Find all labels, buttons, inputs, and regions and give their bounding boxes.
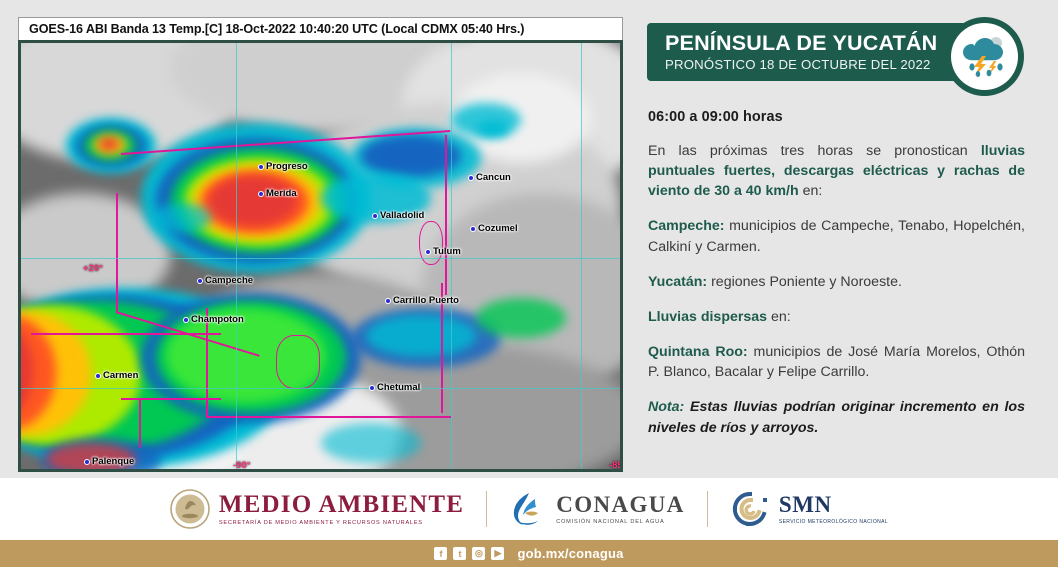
grid-coordinate-label: +20°	[83, 263, 103, 274]
coastline	[116, 193, 118, 313]
city-name: Tulum	[433, 246, 461, 257]
city-name: Progreso	[266, 161, 308, 172]
city-marker-dot	[198, 279, 202, 283]
dispersas-text: en:	[767, 309, 791, 325]
dispersas-label: Lluvias dispersas	[648, 309, 767, 325]
city-label: Campeche	[198, 275, 253, 286]
note-label: Nota:	[648, 399, 684, 415]
page-subtitle: PRONÓSTICO 18 DE OCTUBRE DEL 2022	[665, 57, 967, 72]
paragraph-dispersas: Lluvias dispersas en:	[648, 307, 1025, 327]
website-url[interactable]: gob.mx/conagua	[517, 546, 623, 561]
intro-tail: en:	[799, 183, 823, 199]
grid-coordinate-label: -85	[609, 460, 623, 471]
city-name: Campeche	[205, 275, 253, 286]
latitude-gridline	[21, 258, 620, 259]
thunderstorm-rain-icon	[960, 34, 1010, 80]
border-line	[206, 416, 451, 418]
city-marker-dot	[370, 386, 374, 390]
campeche-label: Campeche:	[648, 218, 724, 234]
city-marker-dot	[469, 176, 473, 180]
smn-subtitle: SERVICIO METEOROLÓGICO NACIONAL	[779, 519, 888, 525]
city-marker-dot	[259, 165, 263, 169]
mexico-seal-icon	[170, 489, 210, 529]
city-label: Cozumel	[471, 223, 518, 234]
logo-divider	[707, 491, 708, 527]
longitude-gridline	[236, 43, 237, 469]
satellite-title: GOES-16 ABI Banda 13 Temp.[C] 18-Oct-202…	[18, 17, 623, 40]
medio-ambiente-subtitle: SECRETARÍA DE MEDIO AMBIENTE Y RECURSOS …	[219, 520, 464, 526]
city-label: Progreso	[259, 161, 308, 172]
instagram-icon[interactable]: ◎	[472, 547, 485, 560]
quintana-label: Quintana Roo:	[648, 344, 748, 360]
city-name: Cancun	[476, 172, 511, 183]
city-label: Tulum	[426, 246, 461, 257]
paragraph-intro: En las próximas tres horas se pronostica…	[648, 141, 1025, 201]
city-label: Palenque	[85, 456, 134, 467]
grid-coordinate-label: -90°	[233, 460, 251, 471]
forecast-infographic: GOES-16 ABI Banda 13 Temp.[C] 18-Oct-202…	[0, 0, 1058, 567]
paragraph-quintana-roo: Quintana Roo: municipios de José María M…	[648, 342, 1025, 382]
city-marker-dot	[426, 250, 430, 254]
facebook-icon[interactable]: f	[434, 547, 447, 560]
medio-ambiente-logo: MEDIO AMBIENTE SECRETARÍA DE MEDIO AMBIE…	[170, 489, 464, 529]
conagua-title: CONAGUA	[556, 493, 685, 516]
social-bar: f t ◎ ▶ gob.mx/conagua	[0, 540, 1058, 567]
weather-badge	[945, 17, 1024, 96]
city-label: Champoton	[184, 314, 244, 325]
city-marker-dot	[386, 299, 390, 303]
header-banner: PENÍNSULA DE YUCATÁN PRONÓSTICO 18 DE OC…	[637, 17, 1041, 95]
medio-ambiente-text: MEDIO AMBIENTE SECRETARÍA DE MEDIO AMBIE…	[219, 492, 464, 526]
badge-circle	[951, 23, 1018, 90]
city-marker-dot	[471, 227, 475, 231]
lagoon-outline	[276, 335, 320, 389]
conagua-eagle-water-icon	[509, 489, 547, 529]
conagua-subtitle: COMISIÓN NACIONAL DEL AGUA	[556, 519, 685, 525]
forecast-hours: 06:00 a 09:00 horas	[648, 109, 1041, 125]
paragraph-campeche: Campeche: municipios de Campeche, Tenabo…	[648, 216, 1025, 256]
footer-logos: MEDIO AMBIENTE SECRETARÍA DE MEDIO AMBIE…	[0, 478, 1058, 540]
city-name: Valladolid	[380, 210, 424, 221]
satellite-panel: GOES-16 ABI Banda 13 Temp.[C] 18-Oct-202…	[18, 17, 623, 472]
city-label: Chetumal	[370, 382, 420, 393]
yucatan-label: Yucatán:	[648, 274, 707, 290]
city-marker-dot	[96, 374, 100, 378]
logo-divider	[486, 491, 487, 527]
city-label: Carmen	[96, 370, 138, 381]
longitude-gridline	[581, 43, 582, 469]
page-title: PENÍNSULA DE YUCATÁN	[665, 32, 967, 55]
city-name: Palenque	[92, 456, 134, 467]
border-line	[121, 398, 221, 400]
city-name: Carrillo Puerto	[393, 295, 459, 306]
smn-text: SMN SERVICIO METEOROLÓGICO NACIONAL	[779, 493, 888, 525]
forecast-column: PENÍNSULA DE YUCATÁN PRONÓSTICO 18 DE OC…	[637, 17, 1041, 438]
smn-logo: SMN SERVICIO METEOROLÓGICO NACIONAL	[730, 489, 888, 529]
youtube-icon[interactable]: ▶	[491, 547, 504, 560]
conagua-logo: CONAGUA COMISIÓN NACIONAL DEL AGUA	[509, 489, 685, 529]
forecast-body: En las próximas tres horas se pronostica…	[648, 141, 1025, 438]
satellite-image: ProgresoMeridaCancunValladolidCozumelTul…	[18, 40, 623, 472]
city-label: Carrillo Puerto	[386, 295, 459, 306]
smn-spiral-icon	[730, 489, 770, 529]
yucatan-text: regiones Poniente y Noroeste.	[707, 274, 902, 290]
city-name: Cozumel	[478, 223, 518, 234]
city-name: Carmen	[103, 370, 138, 381]
latitude-gridline	[21, 388, 620, 389]
city-name: Champoton	[191, 314, 244, 325]
paragraph-note: Nota: Estas lluvias podrían originar inc…	[648, 397, 1025, 437]
city-label: Merida	[259, 188, 297, 199]
banner-box: PENÍNSULA DE YUCATÁN PRONÓSTICO 18 DE OC…	[647, 23, 967, 81]
city-marker-dot	[184, 318, 188, 322]
border-line	[139, 398, 141, 448]
smn-title: SMN	[779, 493, 888, 516]
note-text: Estas lluvias podrían originar increment…	[648, 399, 1025, 435]
city-marker-dot	[373, 214, 377, 218]
city-name: Chetumal	[377, 382, 420, 393]
city-label: Cancun	[469, 172, 511, 183]
conagua-text: CONAGUA COMISIÓN NACIONAL DEL AGUA	[556, 493, 685, 525]
medio-ambiente-title: MEDIO AMBIENTE	[219, 492, 464, 517]
paragraph-yucatan: Yucatán: regiones Poniente y Noroeste.	[648, 272, 1025, 292]
intro-lead: En las próximas tres horas se pronostica…	[648, 143, 981, 159]
city-marker-dot	[85, 460, 89, 464]
city-marker-dot	[259, 192, 263, 196]
city-label: Valladolid	[373, 210, 424, 221]
cloud-field	[21, 43, 620, 469]
city-name: Merida	[266, 188, 297, 199]
border-line	[31, 333, 221, 335]
twitter-icon[interactable]: t	[453, 547, 466, 560]
coastline	[445, 135, 447, 295]
